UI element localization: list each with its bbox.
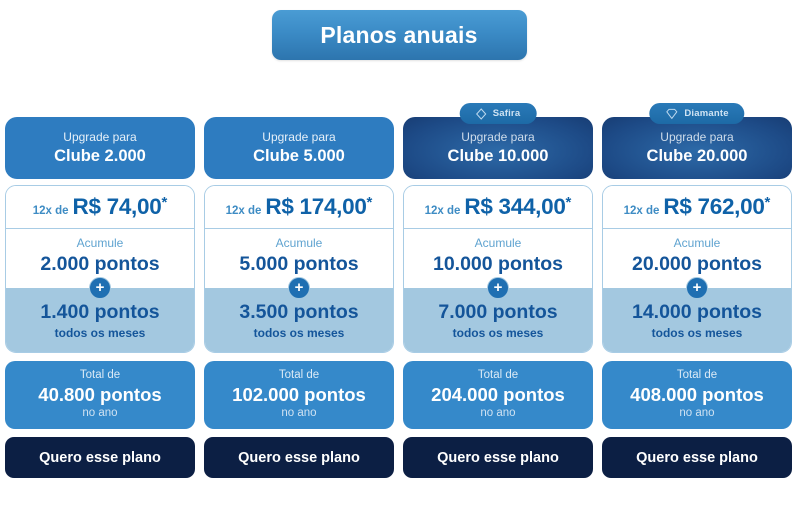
plan-cards-container: Upgrade para Clube 2.000 12x de R$ 74,00… [5,103,795,478]
accumulate-label: Acumule [6,235,194,251]
plan-card-clube-2000: Upgrade para Clube 2.000 12x de R$ 74,00… [5,103,195,478]
price-prefix-label: 12x de [226,205,262,217]
price-value: R$ 74,00 [73,194,162,220]
total-period-note: no ano [204,406,394,421]
bonus-section: + 1.400 pontos todos os meses [6,288,194,352]
plan-details: 12x de R$ 344,00 * Acumule 10.000 pontos… [403,185,593,353]
upgrade-prefix-label: Upgrade para [262,129,335,145]
bonus-section: + 14.000 pontos todos os meses [603,288,791,352]
choose-plan-button[interactable]: Quero esse plano [204,437,394,478]
accumulate-points: 2.000 pontos [6,252,194,276]
total-points: 40.800 pontos [5,383,195,406]
choose-plan-button[interactable]: Quero esse plano [602,437,792,478]
plan-details: 12x de R$ 74,00 * Acumule 2.000 pontos +… [5,185,195,353]
plan-card-clube-5000: Upgrade para Clube 5.000 12x de R$ 174,0… [204,103,394,478]
price-value: R$ 344,00 [464,194,565,220]
total-label: Total de [602,368,792,383]
price-value: R$ 174,00 [265,194,366,220]
total-points: 408.000 pontos [602,383,792,406]
plan-details: 12x de R$ 762,00 * Acumule 20.000 pontos… [602,185,792,353]
tier-badge-label: Diamante [684,108,728,119]
price-row: 12x de R$ 762,00 * [603,186,791,229]
upgrade-prefix-label: Upgrade para [461,129,534,145]
accumulate-points: 10.000 pontos [404,252,592,276]
choose-plan-button[interactable]: Quero esse plano [5,437,195,478]
price-row: 12x de R$ 344,00 * [404,186,592,229]
plan-header: Upgrade para Clube 20.000 [602,117,792,179]
price-row: 12x de R$ 174,00 * [205,186,393,229]
bonus-points: 3.500 pontos [205,300,393,324]
accumulate-label: Acumule [404,235,592,251]
plan-header: Upgrade para Clube 10.000 [403,117,593,179]
plan-card-clube-20000: Diamante Upgrade para Clube 20.000 12x d… [602,103,792,478]
tier-badge-label: Safira [493,108,521,119]
total-label: Total de [5,368,195,383]
plus-icon: + [686,277,708,299]
rhombus-icon [476,108,487,120]
total-section: Total de 408.000 pontos no ano [602,361,792,429]
price-prefix-label: 12x de [624,205,660,217]
bonus-frequency-note: todos os meses [404,325,592,341]
accumulate-label: Acumule [603,235,791,251]
page-title-pill: Planos anuais [272,10,527,60]
price-asterisk: * [566,194,572,211]
plus-icon: + [89,277,111,299]
accumulate-points: 20.000 pontos [603,252,791,276]
plan-header: Upgrade para Clube 2.000 [5,117,195,179]
total-section: Total de 204.000 pontos no ano [403,361,593,429]
bonus-frequency-note: todos os meses [6,325,194,341]
plan-name: Clube 5.000 [253,146,345,167]
page-title-container: Planos anuais [0,10,798,60]
tier-badge-diamante: Diamante [649,103,744,124]
total-section: Total de 102.000 pontos no ano [204,361,394,429]
total-period-note: no ano [403,406,593,421]
total-points: 102.000 pontos [204,383,394,406]
price-value: R$ 762,00 [663,194,764,220]
plan-header: Upgrade para Clube 5.000 [204,117,394,179]
page-title: Planos anuais [320,22,477,49]
price-prefix-label: 12x de [425,205,461,217]
total-label: Total de [204,368,394,383]
accumulate-label: Acumule [205,235,393,251]
bonus-section: + 7.000 pontos todos os meses [404,288,592,352]
bonus-section: + 3.500 pontos todos os meses [205,288,393,352]
plan-name: Clube 2.000 [54,146,146,167]
price-asterisk: * [765,194,771,211]
choose-plan-button[interactable]: Quero esse plano [403,437,593,478]
total-label: Total de [403,368,593,383]
price-asterisk: * [161,194,167,211]
total-period-note: no ano [5,406,195,421]
plus-icon: + [288,277,310,299]
plan-name: Clube 20.000 [647,146,748,167]
upgrade-prefix-label: Upgrade para [660,129,733,145]
bonus-frequency-note: todos os meses [205,325,393,341]
upgrade-prefix-label: Upgrade para [63,129,136,145]
total-points: 204.000 pontos [403,383,593,406]
price-prefix-label: 12x de [33,205,69,217]
plus-icon: + [487,277,509,299]
bonus-points: 14.000 pontos [603,300,791,324]
plan-name: Clube 10.000 [448,146,549,167]
total-section: Total de 40.800 pontos no ano [5,361,195,429]
bonus-frequency-note: todos os meses [603,325,791,341]
plan-card-clube-10000: Safira Upgrade para Clube 10.000 12x de … [403,103,593,478]
price-row: 12x de R$ 74,00 * [6,186,194,229]
price-asterisk: * [367,194,373,211]
tier-badge-safira: Safira [460,103,537,124]
accumulate-points: 5.000 pontos [205,252,393,276]
bonus-points: 1.400 pontos [6,300,194,324]
pricing-plans-page: Planos anuais Upgrade para Clube 2.000 1… [0,0,798,513]
gem-icon [665,108,678,120]
bonus-points: 7.000 pontos [404,300,592,324]
plan-details: 12x de R$ 174,00 * Acumule 5.000 pontos … [204,185,394,353]
total-period-note: no ano [602,406,792,421]
